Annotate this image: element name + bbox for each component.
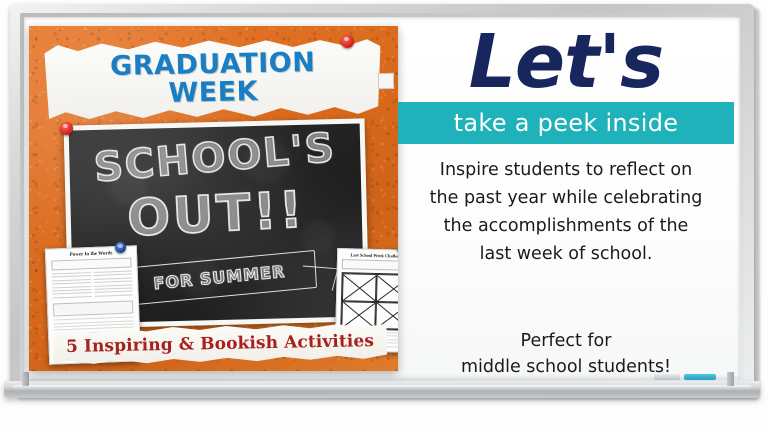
grid-cell (342, 273, 377, 301)
marker-tray-lip (12, 385, 752, 390)
promo-body-line: Inspire students to reflect on (396, 156, 736, 184)
product-cover-card[interactable]: GRADUATION WEEK SCHOOL'S OUT!! FOR SUMME… (29, 26, 398, 371)
promo-closing: Perfect for middle school students! (396, 328, 736, 380)
tray-bracket-left (22, 372, 29, 386)
grid-cell (341, 301, 376, 329)
blue-pushpin (115, 242, 126, 253)
promo-closing-line: Perfect for (396, 328, 736, 354)
worksheet-column-left (52, 272, 92, 301)
promo-closing-line: middle school students! (396, 354, 736, 380)
red-pushpin (60, 122, 73, 135)
promo-body-line: the accomplishments of the (396, 212, 736, 240)
promo-body-line: last week of school. (396, 240, 736, 268)
worksheet-instructions-box (51, 257, 131, 270)
slide-canvas: GRADUATION WEEK SCHOOL'S OUT!! FOR SUMME… (0, 0, 768, 432)
worksheet-note-box (53, 301, 133, 317)
promo-panel: Let's take a peek inside Inspire student… (396, 16, 736, 376)
worksheet-column-right (93, 270, 133, 299)
promo-body: Inspire students to reflect on the past … (396, 156, 736, 268)
red-pushpin (341, 35, 354, 48)
worksheet-columns (52, 270, 133, 300)
challenge-grid (340, 272, 398, 331)
worksheet-title: Last School Week Challenge (342, 252, 398, 259)
promo-body-line: the past year while celebrating (396, 184, 736, 212)
worksheet-instructions-box (342, 259, 398, 271)
brand-badge (378, 73, 394, 89)
grid-cell (376, 274, 398, 302)
promo-banner-text: take a peek inside (398, 102, 734, 144)
promo-headline: Let's (396, 16, 736, 108)
